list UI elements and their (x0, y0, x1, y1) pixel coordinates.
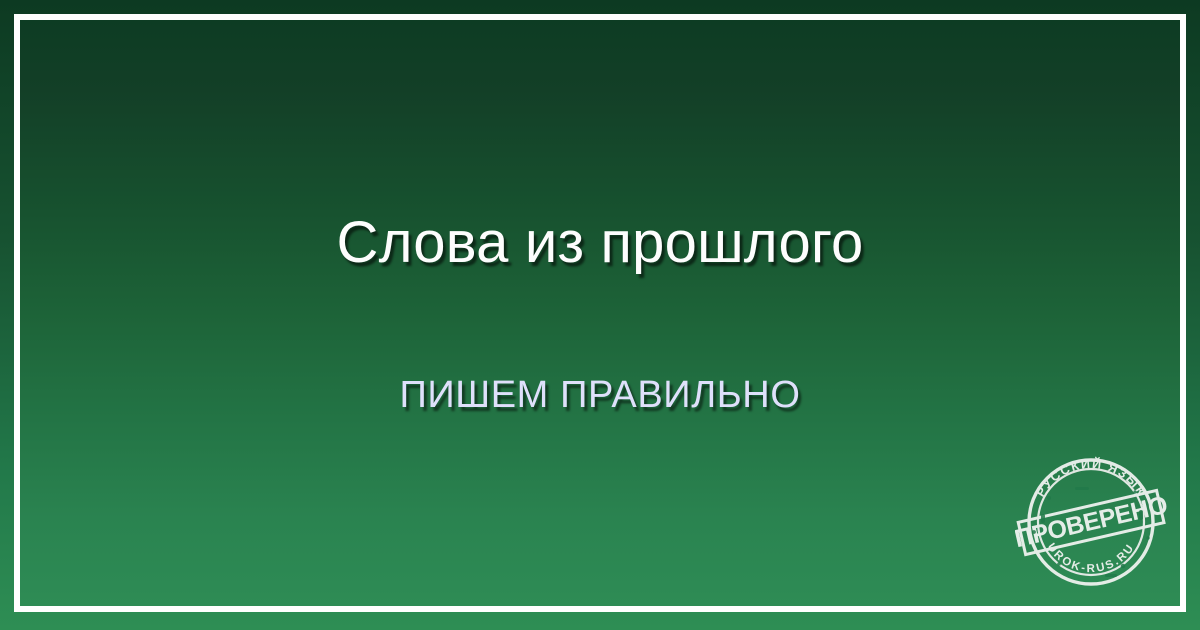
stamp-arc-top-textpath: РУССКИЙ ЯЗЫК (1033, 456, 1149, 499)
banner-subtitle: ПИШЕМ ПРАВИЛЬНО (20, 372, 1180, 418)
banner-content: Слова из прошлого ПИШЕМ ПРАВИЛЬНО (20, 20, 1180, 606)
white-frame-border: Слова из прошлого ПИШЕМ ПРАВИЛЬНО (14, 14, 1186, 612)
banner-image: Слова из прошлого ПИШЕМ ПРАВИЛЬНО (0, 0, 1200, 630)
stamp-arc-top-text: РУССКИЙ ЯЗЫК (1033, 456, 1149, 499)
stamp-banner-text: ПРОВЕРЕНО (1015, 491, 1167, 553)
banner-title: Слова из прошлого (20, 210, 1180, 276)
verified-stamp-icon: РУССКИЙ ЯЗЫК UROK-RUS.RU ПРОВЕРЕНО (1015, 446, 1167, 598)
